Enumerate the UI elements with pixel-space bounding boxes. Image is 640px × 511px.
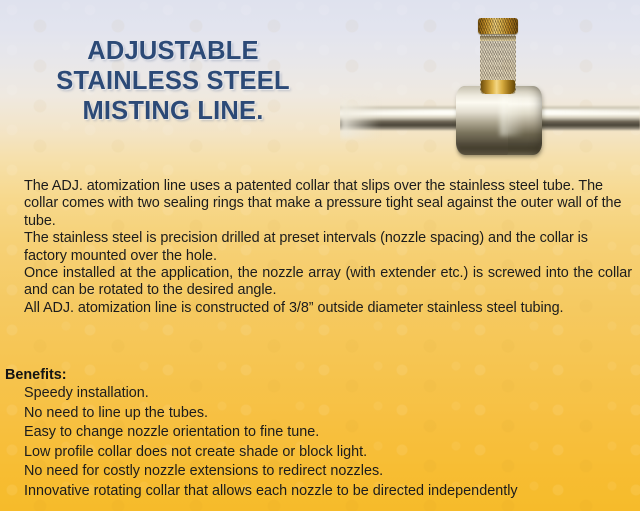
- benefits-heading: Benefits:: [0, 366, 640, 384]
- title-line-1: ADJUSTABLE: [8, 36, 338, 66]
- title-line-2: STAINLESS STEEL: [8, 66, 338, 96]
- title-line-3: MISTING LINE.: [8, 96, 338, 126]
- benefits-section: Benefits: Speedy installation. No need t…: [0, 366, 640, 502]
- paragraph-1: The ADJ. atomization line uses a patente…: [0, 178, 640, 230]
- benefit-item: No need for costly nozzle extensions to …: [0, 462, 640, 482]
- paragraph-2: The stainless steel is precision drilled…: [0, 230, 640, 265]
- collar-shadow-icon: [458, 146, 540, 158]
- benefit-item: Innovative rotating collar that allows e…: [0, 482, 640, 502]
- benefit-item: No need to line up the tubes.: [0, 404, 640, 424]
- benefit-item: Low profile collar does not create shade…: [0, 443, 640, 463]
- nozzle-cap-knurl-texture-icon: [478, 18, 518, 34]
- paragraph-4: All ADJ. atomization line is constructed…: [0, 300, 640, 317]
- tube-fade-icon: [340, 100, 380, 138]
- poster-title: ADJUSTABLE STAINLESS STEEL MISTING LINE.: [8, 36, 338, 126]
- nozzle-base-icon: [481, 80, 515, 94]
- poster-header: ADJUSTABLE STAINLESS STEEL MISTING LINE.: [0, 0, 640, 172]
- product-info-poster: ADJUSTABLE STAINLESS STEEL MISTING LINE.…: [0, 0, 640, 511]
- collar-bevel-icon: [500, 96, 524, 136]
- product-photo: [340, 0, 640, 172]
- benefit-item: Speedy installation.: [0, 384, 640, 404]
- poster-body-text: The ADJ. atomization line uses a patente…: [0, 178, 640, 317]
- nozzle-groove-icon: [480, 36, 516, 41]
- paragraph-3: Once installed at the application, the n…: [0, 265, 640, 300]
- benefit-item: Easy to change nozzle orientation to fin…: [0, 423, 640, 443]
